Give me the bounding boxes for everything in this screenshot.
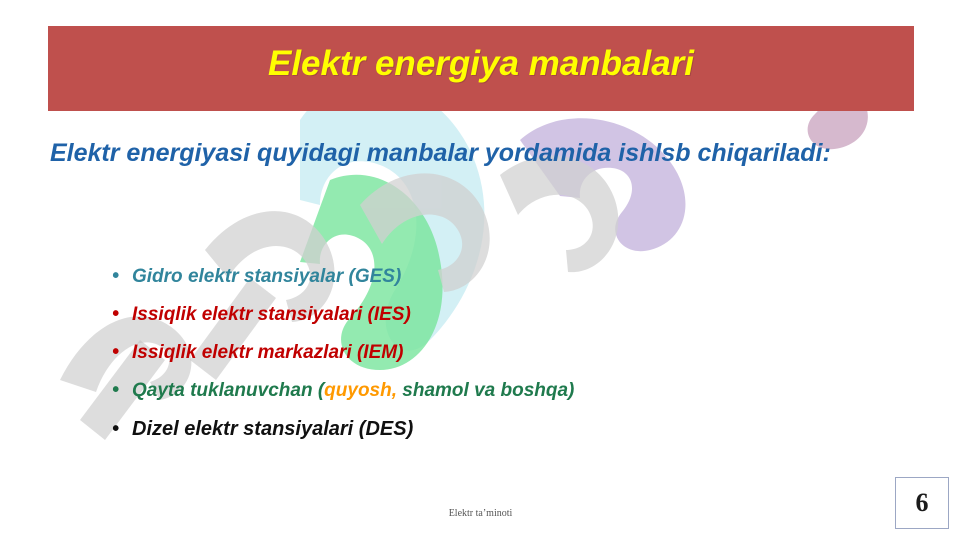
list-item-label-tail: shamol va boshqa) <box>397 380 574 401</box>
list-item-label: Qayta tuklanuvchan (quyosh, shamol va bo… <box>132 380 574 402</box>
list-item-label-head: Qayta tuklanuvchan ( <box>132 380 324 401</box>
slide: Elektr energiya manbalari Elektr energiy… <box>0 0 961 540</box>
bullet-dot-icon: • <box>112 419 132 439</box>
slide-footer: Elektr ta’minoti <box>0 508 961 519</box>
page-number-box: 6 <box>895 477 949 529</box>
bullet-dot-icon: • <box>112 380 132 400</box>
list-item-label: Issiqlik elektr stansiyalari (IES) <box>132 304 411 326</box>
bullet-dot-icon: • <box>112 342 132 362</box>
list-item: • Gidro elektr stansiyalar (GES) <box>112 266 902 288</box>
bullet-dot-icon: • <box>112 266 132 286</box>
list-item: • Issiqlik elektr stansiyalari (IES) <box>112 304 902 326</box>
list-item-label-highlight: quyosh, <box>324 380 397 401</box>
list-item-label: Gidro elektr stansiyalar (GES) <box>132 266 401 288</box>
page-number: 6 <box>916 488 929 518</box>
page-title: Elektr energiya manbalari <box>48 44 914 84</box>
list-item-label: Dizel elektr stansiyalari (DES) <box>132 418 413 441</box>
list-item: • Dizel elektr stansiyalari (DES) <box>112 418 902 441</box>
intro-paragraph: Elektr energiyasi quyidagi manbalar yord… <box>50 136 880 171</box>
list-item: • Issiqlik elektr markazlari (IEM) <box>112 342 902 364</box>
list-item-label: Issiqlik elektr markazlari (IEM) <box>132 342 403 364</box>
list-item: • Qayta tuklanuvchan (quyosh, shamol va … <box>112 380 902 402</box>
bullet-list: • Gidro elektr stansiyalar (GES) • Issiq… <box>112 266 902 457</box>
bullet-dot-icon: • <box>112 304 132 324</box>
